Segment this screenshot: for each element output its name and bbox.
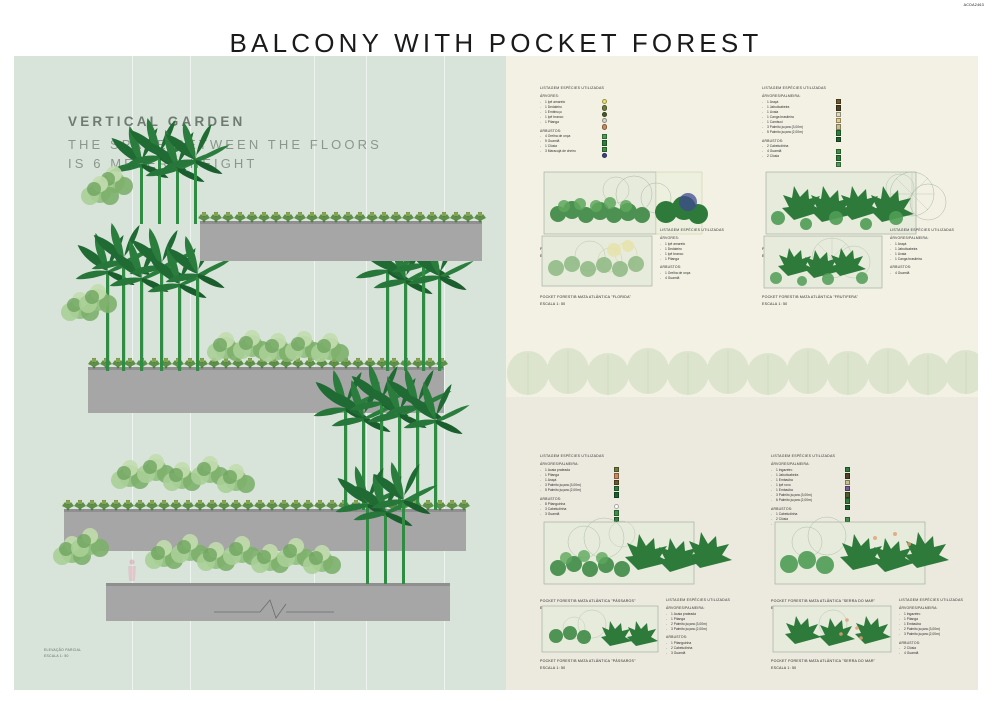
species-group-label: ARBUSTOS: <box>762 139 902 143</box>
color-key <box>836 99 841 143</box>
plans-panel: LISTAGEM ESPÉCIES UTILIZADAS ÁRVORES: -1… <box>506 56 978 690</box>
species-group-label: ARBUSTOS: <box>899 641 978 645</box>
elevation-caption: ELEVAÇÃO PARCIAL ESCALA 1: 50 <box>44 648 81 660</box>
plan-drawing[interactable] <box>538 516 744 592</box>
plan-unit-florida-detail[interactable]: LISTAGEM ESPÉCIES UTILIZADAS ÁRVORES: -1… <box>540 228 746 346</box>
plan-caption-title: POCKET FOREST/B MATA ATLÂNTICA "FLORIDA" <box>540 294 631 301</box>
species-row: -1 Canga brasileira <box>890 257 974 262</box>
color-key <box>602 134 607 159</box>
elevation-caption-scale: ESCALA 1: 50 <box>44 654 81 660</box>
species-row: -4 Guamiã <box>660 276 746 281</box>
elevation-tier-0 <box>81 118 486 261</box>
species-group-label: ARBUSTOS: <box>660 265 746 269</box>
species-group-label: ARBUSTOS: <box>771 507 911 511</box>
species-row: -4 Guamiã <box>890 271 974 276</box>
species-group-label: ARBUSTOS: <box>666 635 746 639</box>
color-key <box>836 149 841 168</box>
species-group-label: ÁRVORES/PALMEIRA: <box>771 462 911 466</box>
elevation-panel: VERTICAL GARDEN THE SPACE BETWEEN THE FL… <box>14 56 506 690</box>
species-list: LISTAGEM ESPÉCIES UTILIZADAS ÁRVORES/PAL… <box>540 454 680 517</box>
species-row: -4 Guamiã <box>899 651 978 656</box>
plan-caption-scale: ESCALA 1: 50 <box>762 301 858 308</box>
species-group-label: ÁRVORES: <box>540 94 670 98</box>
plan-drawing[interactable] <box>540 234 654 288</box>
species-list-header: LISTAGEM ESPÉCIES UTILIZADAS <box>762 86 902 90</box>
plan-caption-title: POCKET FOREST/B MATA ATLÂNTICA "FRUTIFER… <box>762 294 858 301</box>
plan-unit-serradomar-detail[interactable]: LISTAGEM ESPÉCIES UTILIZADAS ÁRVORES/PAL… <box>771 598 977 688</box>
species-group-label: ÁRVORES: <box>660 236 746 240</box>
species-group-label: ARBUSTOS: <box>890 265 974 269</box>
species-list: LISTAGEM ESPÉCIES UTILIZADAS ÁRVORES/PAL… <box>762 86 902 160</box>
species-row: -1 Pitanga <box>660 257 746 262</box>
species-list: LISTAGEM ESPÉCIES UTILIZADAS ÁRVORES: -1… <box>660 228 746 281</box>
species-list-header: LISTAGEM ESPÉCIES UTILIZADAS <box>660 228 746 232</box>
plan-caption-scale: ESCALA 1: 50 <box>771 665 875 672</box>
species-list: LISTAGEM ESPÉCIES UTILIZADAS ÁRVORES/PAL… <box>666 598 746 656</box>
plan-unit-passaros-detail[interactable]: LISTAGEM ESPÉCIES UTILIZADAS ÁRVORES/PAL… <box>540 598 746 688</box>
species-row: -3 Palmito juçara (2,00m) <box>899 632 978 637</box>
species-list: LISTAGEM ESPÉCIES UTILIZADAS ÁRVORES/PAL… <box>890 228 974 276</box>
species-row: -6 Palmito juçara (2,00m) <box>771 498 911 503</box>
species-group-label: ÁRVORES/PALMEIRA: <box>762 94 902 98</box>
plan-caption-scale: ESCALA 1: 50 <box>540 665 636 672</box>
species-row: -3 Guamiã <box>666 651 746 656</box>
plan-drawing[interactable] <box>771 604 893 654</box>
hedge-divider <box>506 345 978 397</box>
plan-caption-scale: ESCALA 1: 50 <box>540 301 631 308</box>
species-list: LISTAGEM ESPÉCIES UTILIZADAS ÁRVORES/PAL… <box>899 598 978 656</box>
scale-figure <box>128 559 136 581</box>
plan-unit-frutifera-detail[interactable]: LISTAGEM ESPÉCIES UTILIZADAS ÁRVORES/PAL… <box>762 228 974 346</box>
species-list-header: LISTAGEM ESPÉCIES UTILIZADAS <box>899 598 978 602</box>
species-list-header: LISTAGEM ESPÉCIES UTILIZADAS <box>666 598 746 602</box>
color-key <box>845 467 850 511</box>
elevation-drawing <box>14 56 506 690</box>
plan-caption: POCKET FOREST/B MATA ATLÂNTICA "FLORIDA"… <box>540 294 631 307</box>
plan-caption-title: POCKET FOREST/B MATA ATLÂNTICA "SERRA DO… <box>771 658 875 665</box>
plan-drawing[interactable] <box>769 516 975 592</box>
plan-caption: POCKET FOREST/B MATA ATLÂNTICA "FRUTIFER… <box>762 294 858 307</box>
species-group-label: ÁRVORES/PALMEIRA: <box>890 236 974 240</box>
species-row: -2 Clúsia <box>762 154 902 159</box>
species-list-header: LISTAGEM ESPÉCIES UTILIZADAS <box>540 86 670 90</box>
species-group-label: ARBUSTOS: <box>540 497 680 501</box>
page-title: BALCONY WITH POCKET FOREST <box>0 28 992 59</box>
sheet-code: ACDA2463 <box>964 3 984 7</box>
species-group-label: ÁRVORES/PALMEIRA: <box>540 462 680 466</box>
plan-drawing[interactable] <box>540 604 660 654</box>
plan-caption: POCKET FOREST/B MATA ATLÂNTICA "SERRA DO… <box>771 658 875 671</box>
plan-caption-title: POCKET FOREST/B MATA ATLÂNTICA "PÁSSAROS… <box>540 658 636 665</box>
plan-caption: POCKET FOREST/B MATA ATLÂNTICA "PÁSSAROS… <box>540 658 636 671</box>
species-list-header: LISTAGEM ESPÉCIES UTILIZADAS <box>890 228 974 232</box>
color-key <box>602 99 607 130</box>
species-row: -3 Palmito juçara (2,00m) <box>666 627 746 632</box>
plan-drawing[interactable] <box>762 234 884 290</box>
species-row: -5 Palmito juçara (2,00m) <box>540 488 680 493</box>
presentation-board: VERTICAL GARDEN THE SPACE BETWEEN THE FL… <box>14 56 978 690</box>
species-row: -5 Palmito juçara (2,00m) <box>762 130 902 135</box>
species-group-label: ÁRVORES/PALMEIRA: <box>899 606 978 610</box>
species-list-header: LISTAGEM ESPÉCIES UTILIZADAS <box>771 454 911 458</box>
species-group-label: ÁRVORES/PALMEIRA: <box>666 606 746 610</box>
color-key <box>614 467 619 498</box>
species-list-header: LISTAGEM ESPÉCIES UTILIZADAS <box>540 454 680 458</box>
